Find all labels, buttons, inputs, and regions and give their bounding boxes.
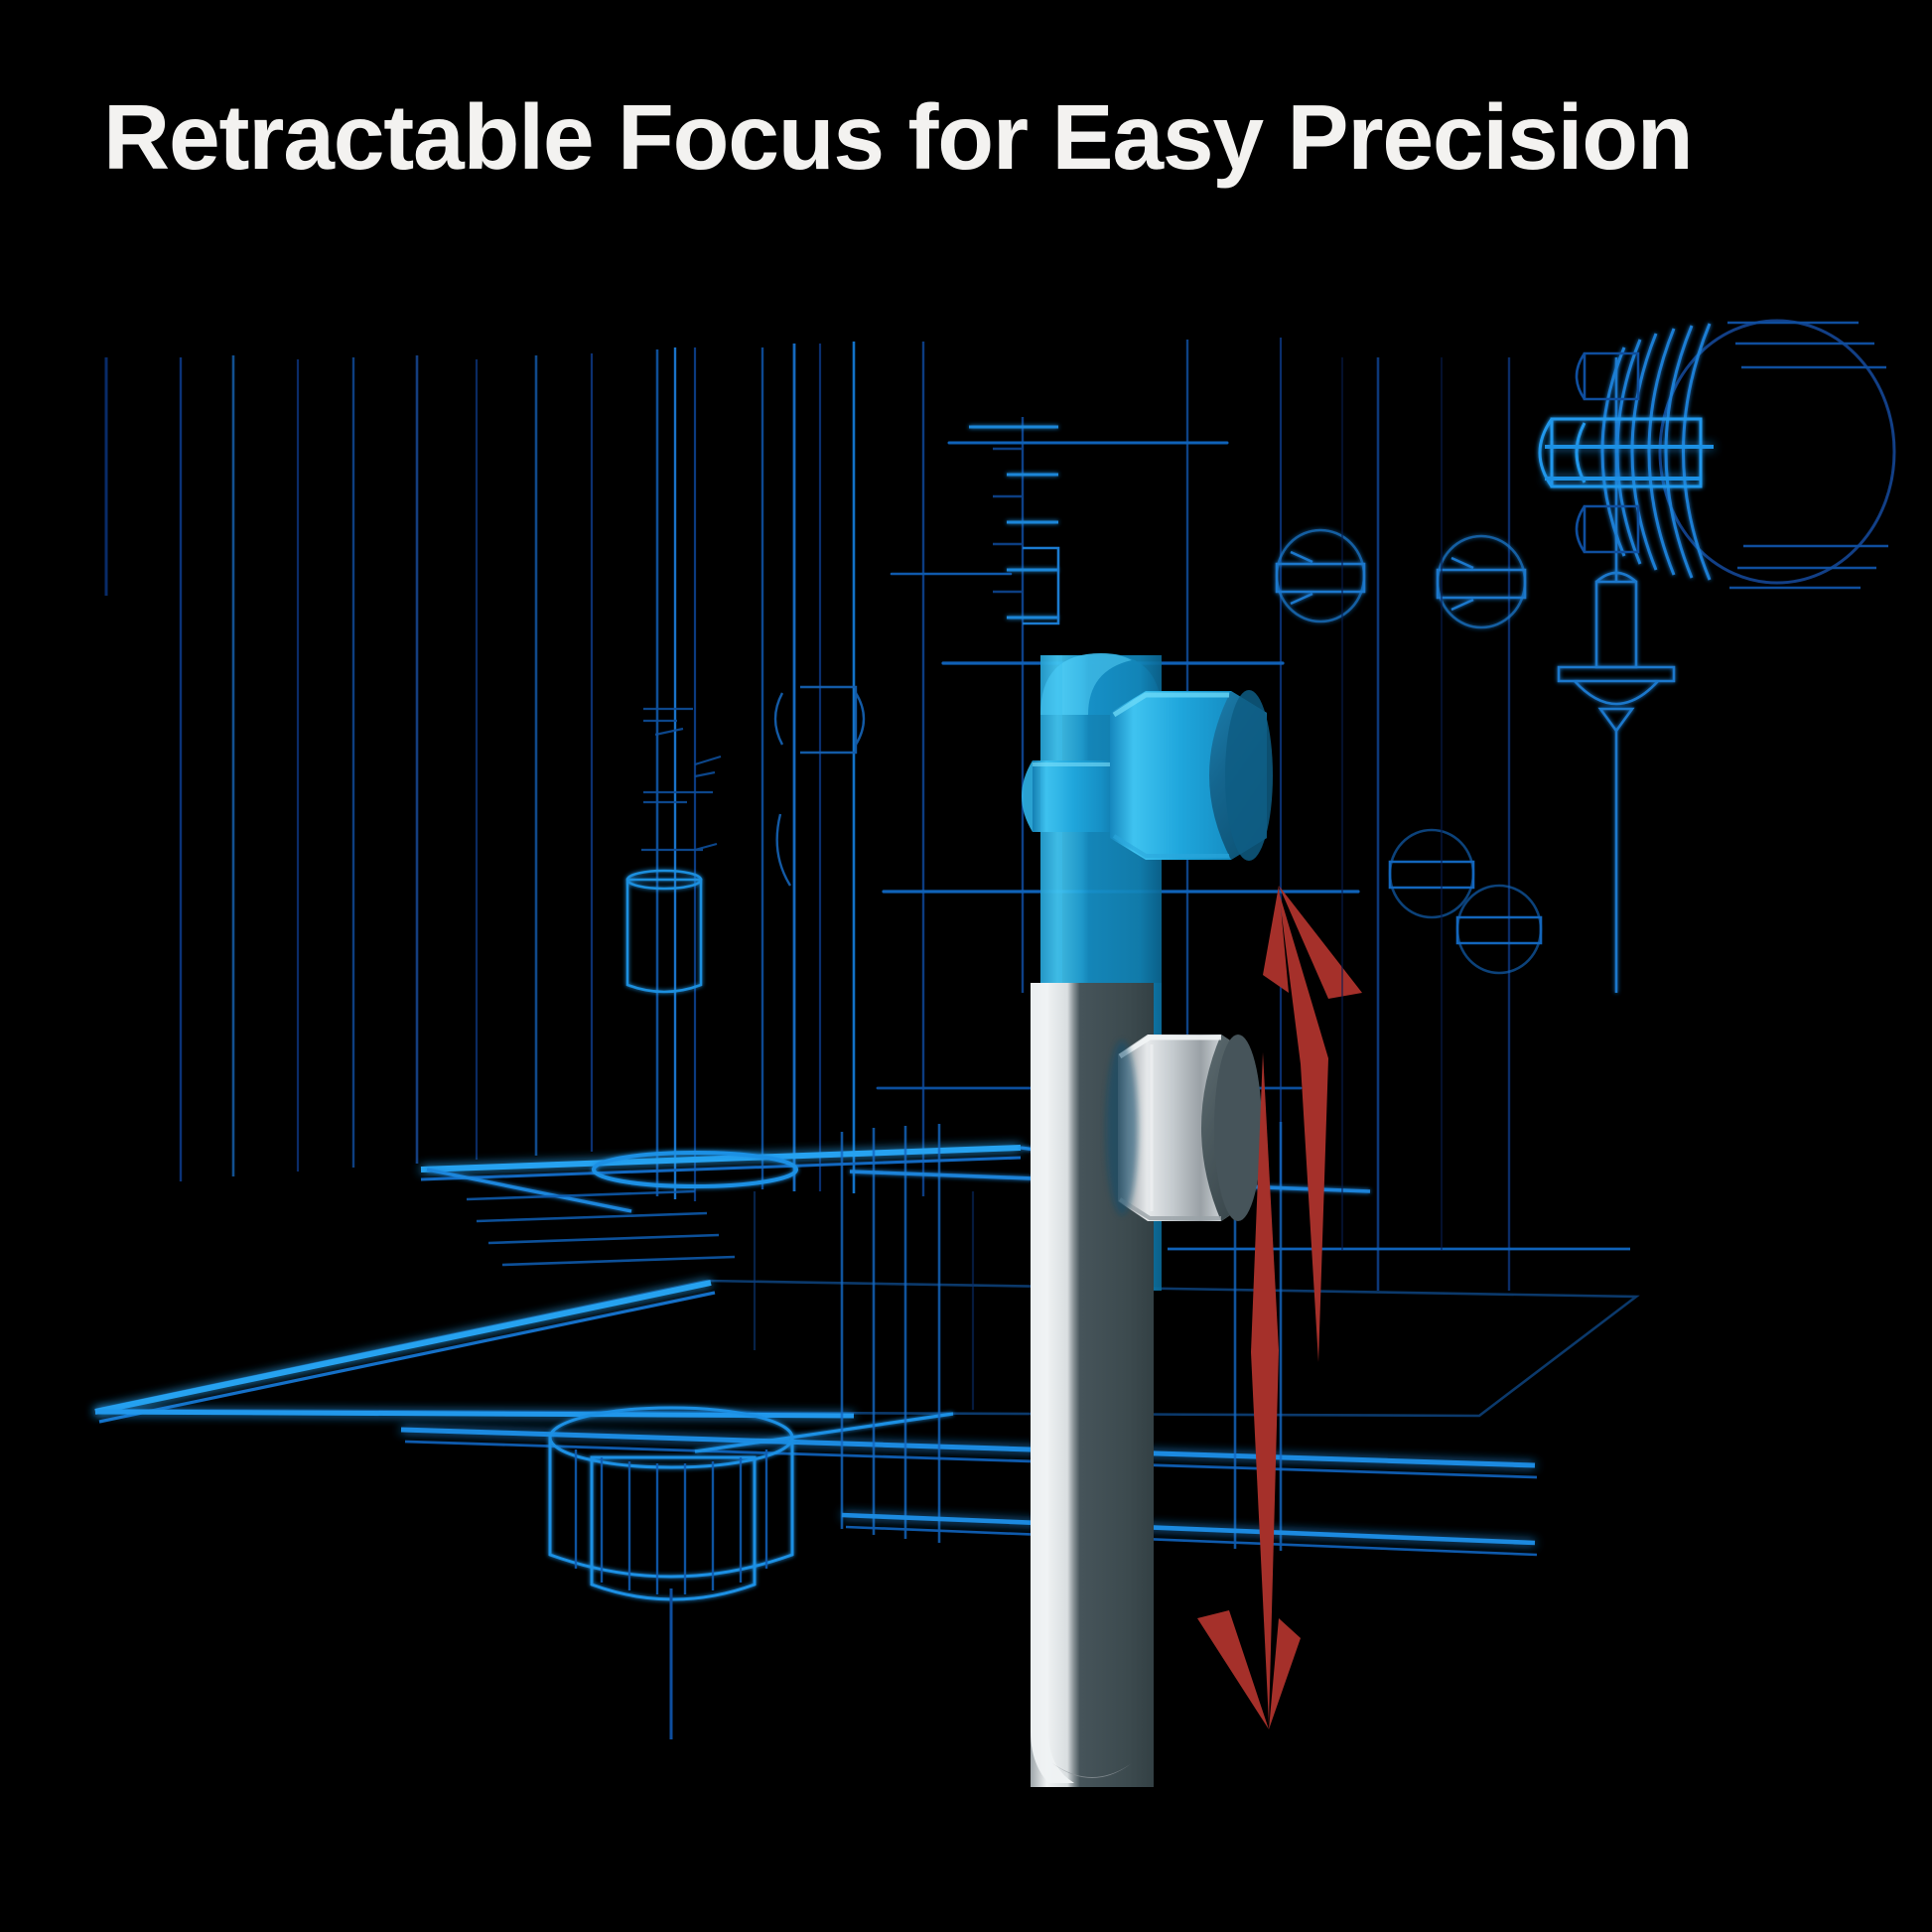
focus-knob: [1106, 1035, 1262, 1221]
product-render: [0, 298, 1932, 1932]
product-feature-graphic: Retractable Focus for Easy Precision: [0, 0, 1932, 1932]
page-title: Retractable Focus for Easy Precision: [103, 87, 1851, 187]
